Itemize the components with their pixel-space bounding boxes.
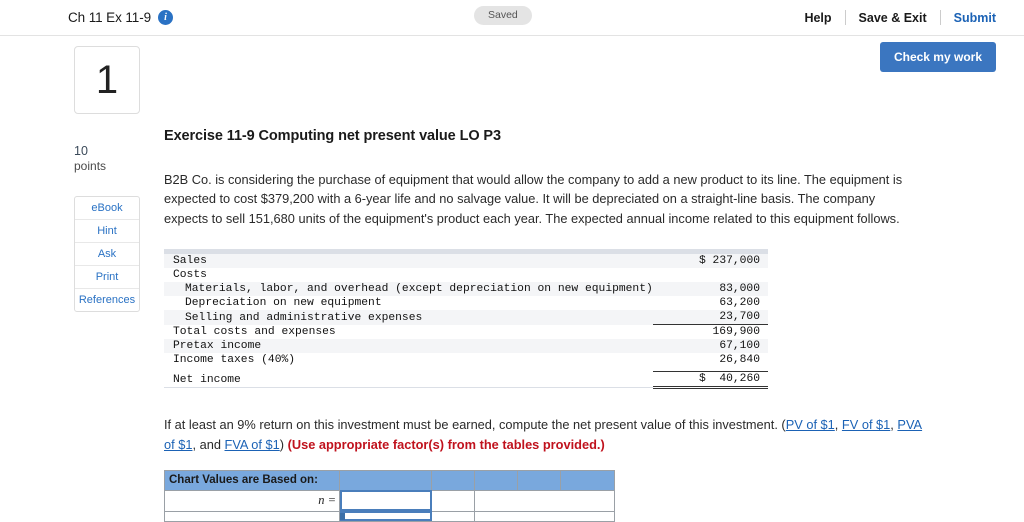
row-value: 26,840	[653, 353, 768, 367]
exercise-name: Ch 11 Ex 11-9	[68, 10, 151, 25]
row-label: Selling and administrative expenses	[164, 310, 653, 325]
chart-values-row-partial	[165, 511, 615, 521]
exercise-identifier: Ch 11 Ex 11-9 i	[68, 10, 173, 25]
exercise-content: Exercise 11-9 Computing net present valu…	[164, 46, 954, 522]
income-statement-table: Sales $ 237,000 Costs Materials, labor, …	[164, 249, 768, 393]
label-partial	[165, 511, 340, 521]
row-label: Total costs and expenses	[164, 325, 653, 340]
header-cell	[518, 470, 561, 490]
row-value	[653, 268, 768, 282]
table-row: Total costs and expenses 169,900	[164, 325, 768, 340]
top-bar-actions: Help Save & Exit Submit	[791, 10, 996, 25]
selection-marker-icon	[340, 513, 345, 520]
table-row: Materials, labor, and overhead (except d…	[164, 282, 768, 296]
cell[interactable]	[475, 511, 615, 521]
link-pv-of-1[interactable]: PV of $1	[786, 417, 835, 432]
row-label: Net income	[164, 372, 653, 388]
table-row: Income taxes (40%) 26,840	[164, 353, 768, 367]
info-icon[interactable]: i	[158, 10, 173, 25]
sidebar-item-hint[interactable]: Hint	[75, 220, 139, 243]
question-prompt: If at least an 9% return on this investm…	[164, 415, 924, 453]
question-text-end: )	[280, 437, 288, 452]
help-link[interactable]: Help	[791, 11, 844, 25]
table-row: Net income $ 40,260	[164, 372, 768, 388]
row-value: 169,900	[653, 325, 768, 340]
question-text-mid: , and	[192, 437, 224, 452]
table-row: Sales $ 237,000	[164, 254, 768, 268]
sidebar-item-ebook[interactable]: eBook	[75, 197, 139, 220]
question-sidebar: 1 10 points eBook Hint Ask Print Referen…	[74, 46, 140, 312]
row-label: Materials, labor, and overhead (except d…	[164, 282, 653, 296]
table-row: Pretax income 67,100	[164, 339, 768, 353]
row-label: Costs	[164, 268, 653, 282]
chart-values-header-label: Chart Values are Based on:	[165, 470, 340, 490]
table-row: Depreciation on new equipment 63,200	[164, 296, 768, 310]
input-partial[interactable]	[340, 511, 432, 521]
sidebar-item-references[interactable]: References	[75, 289, 139, 311]
header-cell	[340, 470, 432, 490]
link-fva-of-1[interactable]: FVA of $1	[225, 437, 280, 452]
row-value: 63,200	[653, 296, 768, 310]
question-number-box: 1	[74, 46, 140, 114]
question-text: If at least an 9% return on this investm…	[164, 417, 786, 432]
chart-values-row-n: n =	[165, 490, 615, 511]
row-value: $ 40,260	[653, 372, 768, 388]
row-label: Depreciation on new equipment	[164, 296, 653, 310]
page-title: Exercise 11-9 Computing net present valu…	[164, 128, 954, 144]
table-bottom-strip	[164, 388, 768, 394]
question-note: (Use appropriate factor(s) from the tabl…	[288, 437, 605, 452]
tool-links-box: eBook Hint Ask Print References	[74, 196, 140, 312]
save-and-exit-link[interactable]: Save & Exit	[846, 11, 940, 25]
table-row: Selling and administrative expenses 23,7…	[164, 310, 768, 325]
chart-values-header-row: Chart Values are Based on:	[165, 470, 615, 490]
row-value: 83,000	[653, 282, 768, 296]
header-cell	[475, 470, 518, 490]
header-cell	[561, 470, 615, 490]
chart-values-table: Chart Values are Based on: n =	[164, 470, 615, 522]
sidebar-item-ask[interactable]: Ask	[75, 243, 139, 266]
row-label: Sales	[164, 254, 653, 268]
cell[interactable]	[432, 490, 475, 511]
question-number: 1	[96, 60, 118, 100]
row-value: $ 237,000	[653, 254, 768, 268]
status-badge: Saved	[474, 6, 532, 25]
label-n: n =	[165, 490, 340, 511]
row-value: 67,100	[653, 339, 768, 353]
sidebar-item-print[interactable]: Print	[75, 266, 139, 289]
row-label: Pretax income	[164, 339, 653, 353]
top-bar: Ch 11 Ex 11-9 i Saved Help Save & Exit S…	[0, 0, 1024, 36]
input-n-value[interactable]	[340, 490, 432, 511]
cell[interactable]	[475, 490, 615, 511]
row-value: 23,700	[653, 310, 768, 325]
link-fv-of-1[interactable]: FV of $1	[842, 417, 890, 432]
table-row: Costs	[164, 268, 768, 282]
points-value: 10	[74, 145, 140, 159]
row-label: Income taxes (40%)	[164, 353, 653, 367]
header-cell	[432, 470, 475, 490]
submit-link[interactable]: Submit	[941, 11, 996, 25]
cell[interactable]	[432, 511, 475, 521]
exercise-description: B2B Co. is considering the purchase of e…	[164, 170, 921, 228]
points-label: points	[74, 159, 140, 175]
